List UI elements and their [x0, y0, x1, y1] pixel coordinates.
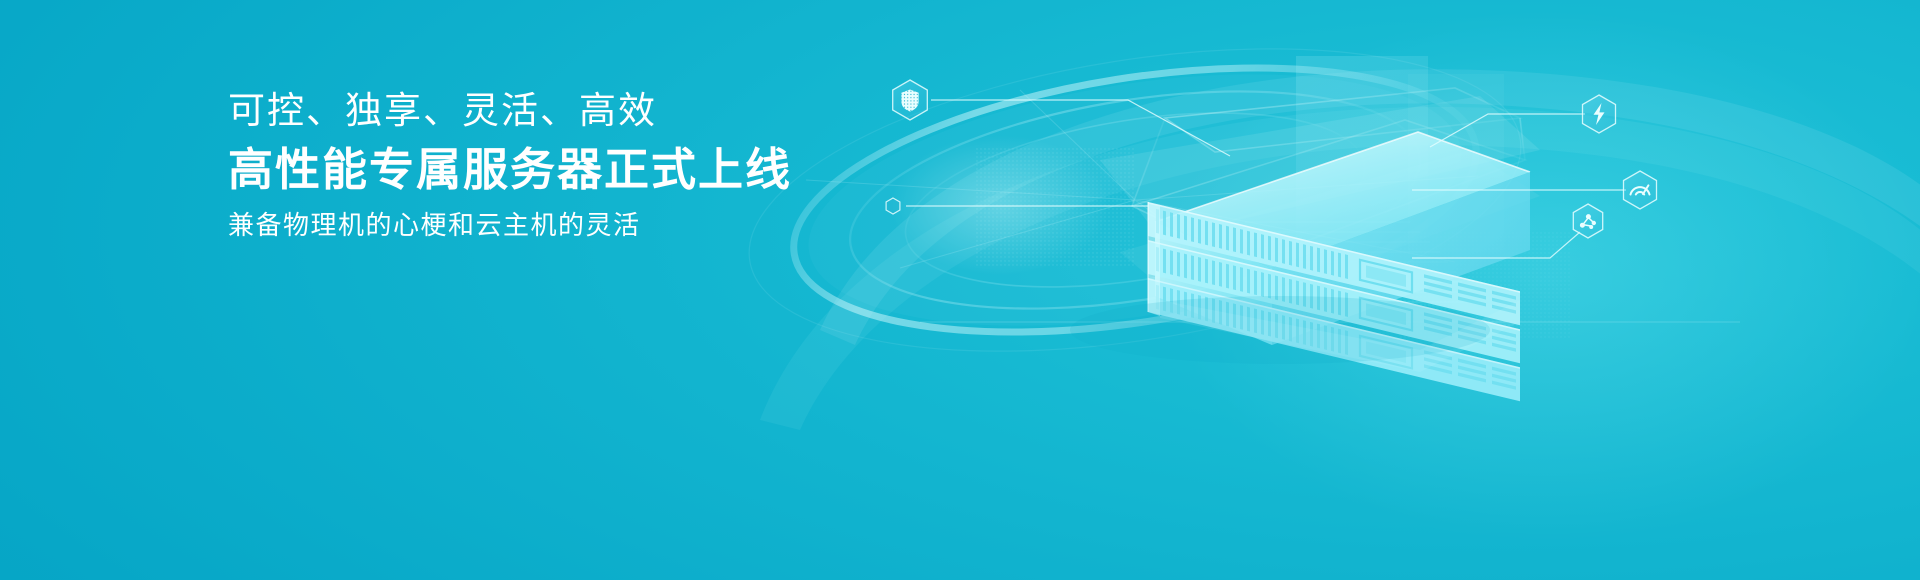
subcopy-text: 兼备物理机的心梗和云主机的灵活 — [228, 209, 988, 243]
hero-banner: 可控、独享、灵活、高效 高性能专属服务器正式上线 兼备物理机的心梗和云主机的灵活 — [0, 0, 1920, 580]
background-gradient — [0, 0, 1920, 580]
headline-text: 高性能专属服务器正式上线 — [228, 143, 988, 197]
copy-block: 可控、独享、灵活、高效 高性能专属服务器正式上线 兼备物理机的心梗和云主机的灵活 — [228, 88, 988, 243]
eyebrow-text: 可控、独享、灵活、高效 — [228, 88, 988, 133]
